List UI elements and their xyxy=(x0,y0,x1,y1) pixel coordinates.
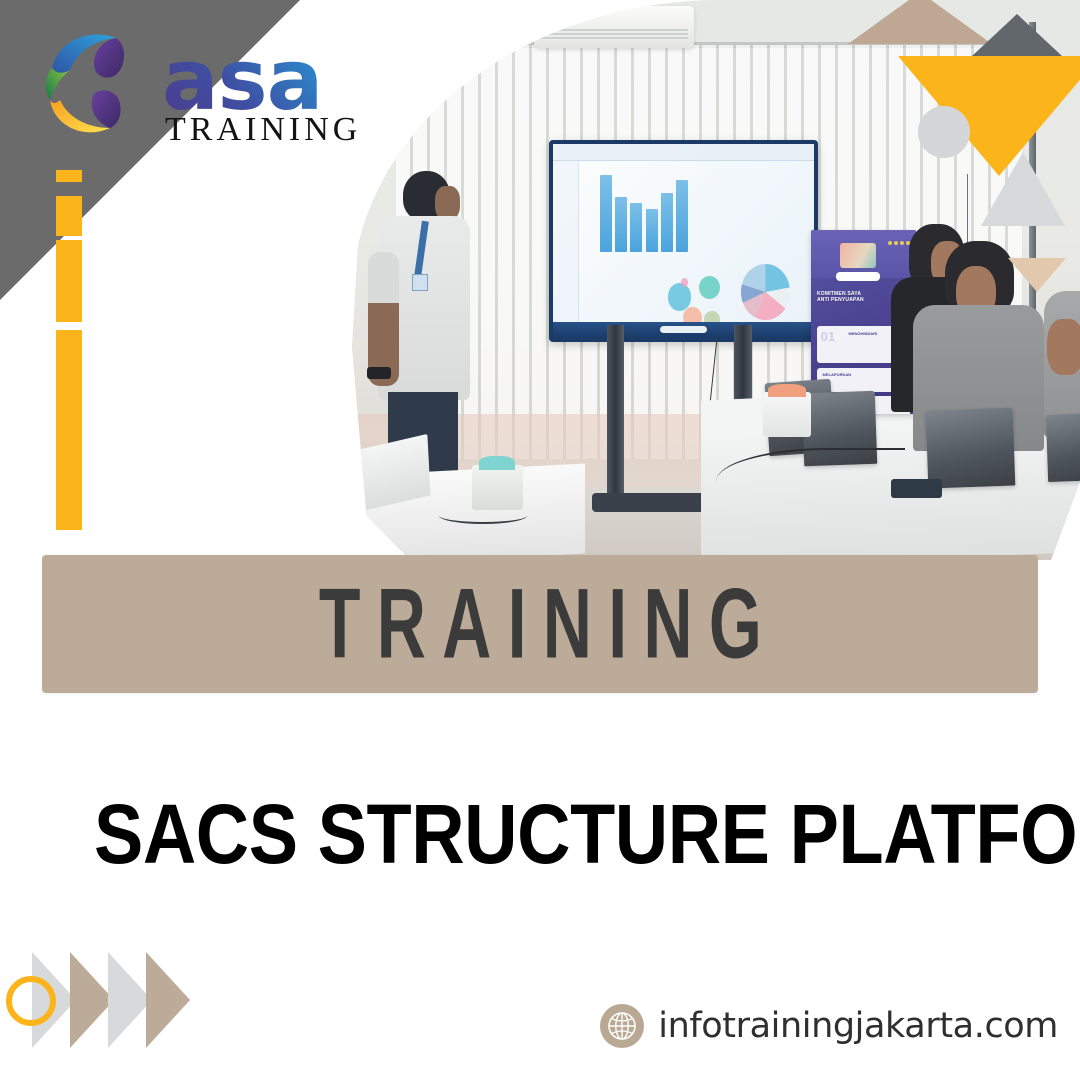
air-conditioner xyxy=(534,6,694,48)
chevron-4-icon xyxy=(146,952,190,1048)
ceiling-hook xyxy=(967,174,968,247)
orange-ring-icon xyxy=(6,976,56,1026)
training-banner-label: TRAINING xyxy=(302,567,778,680)
laptop-3 xyxy=(926,407,1016,488)
screen-bar-chart xyxy=(600,175,689,252)
banner-step-1-number: 01 xyxy=(821,329,835,344)
logo-word: asa xyxy=(162,46,372,115)
brand-logo: asa TRAINING xyxy=(34,22,364,172)
triangle-light-gray-icon xyxy=(981,152,1065,226)
screen-bubble-1 xyxy=(668,283,692,310)
yellow-bar-2 xyxy=(56,196,82,236)
circle-gray-icon xyxy=(918,106,970,158)
banner-illustration xyxy=(840,243,876,269)
training-banner: TRAINING xyxy=(42,555,1038,693)
screen-taskbar xyxy=(553,322,814,337)
display-screen xyxy=(549,140,818,342)
website-footer[interactable]: infotrainingjakarta.com xyxy=(600,1004,1058,1048)
screen-sidebar xyxy=(553,161,579,337)
screen-bubble-2 xyxy=(699,276,720,299)
banner-step-2-label: MELAPORKAN xyxy=(823,372,852,377)
banner-dots xyxy=(888,241,910,245)
presenter-face xyxy=(435,186,460,220)
screen-content xyxy=(553,144,814,338)
screen-toolbar xyxy=(553,144,814,161)
training-poster: KOMITMEN SAYA ANTI PENYUAPAN 01 MENGHIND… xyxy=(0,0,1080,1080)
banner-logo-pill xyxy=(836,272,880,281)
logo-wordmark: asa TRAINING xyxy=(162,46,372,149)
tissue-box-right xyxy=(763,392,810,437)
triangle-tan-small-icon xyxy=(1008,258,1066,292)
screen-stand-left xyxy=(607,325,624,504)
globe-icon xyxy=(600,1004,644,1048)
casa-circular-swoosh-logo-icon xyxy=(34,22,166,154)
tissue-sheet xyxy=(479,456,515,471)
laptop-4 xyxy=(1046,413,1080,482)
course-title-text: SACS STRUCTURE PLATFORM CRANE xyxy=(94,786,1080,883)
yellow-bar-4 xyxy=(56,330,82,530)
course-title: SACS STRUCTURE PLATFORM CRANE xyxy=(0,786,1080,883)
website-url[interactable]: infotrainingjakarta.com xyxy=(658,1006,1058,1046)
tissue-box-front xyxy=(472,465,523,510)
banner-step-1-label: MENGHINDARI xyxy=(849,331,878,336)
logo-subtitle: TRAINING xyxy=(162,111,372,149)
participant-right-arm xyxy=(1047,319,1080,375)
presenter-watch xyxy=(367,367,392,379)
presenter-badge xyxy=(412,274,428,291)
front-cable xyxy=(439,507,526,524)
screen-pie-chart xyxy=(741,264,791,320)
yellow-bar-3 xyxy=(56,240,82,322)
